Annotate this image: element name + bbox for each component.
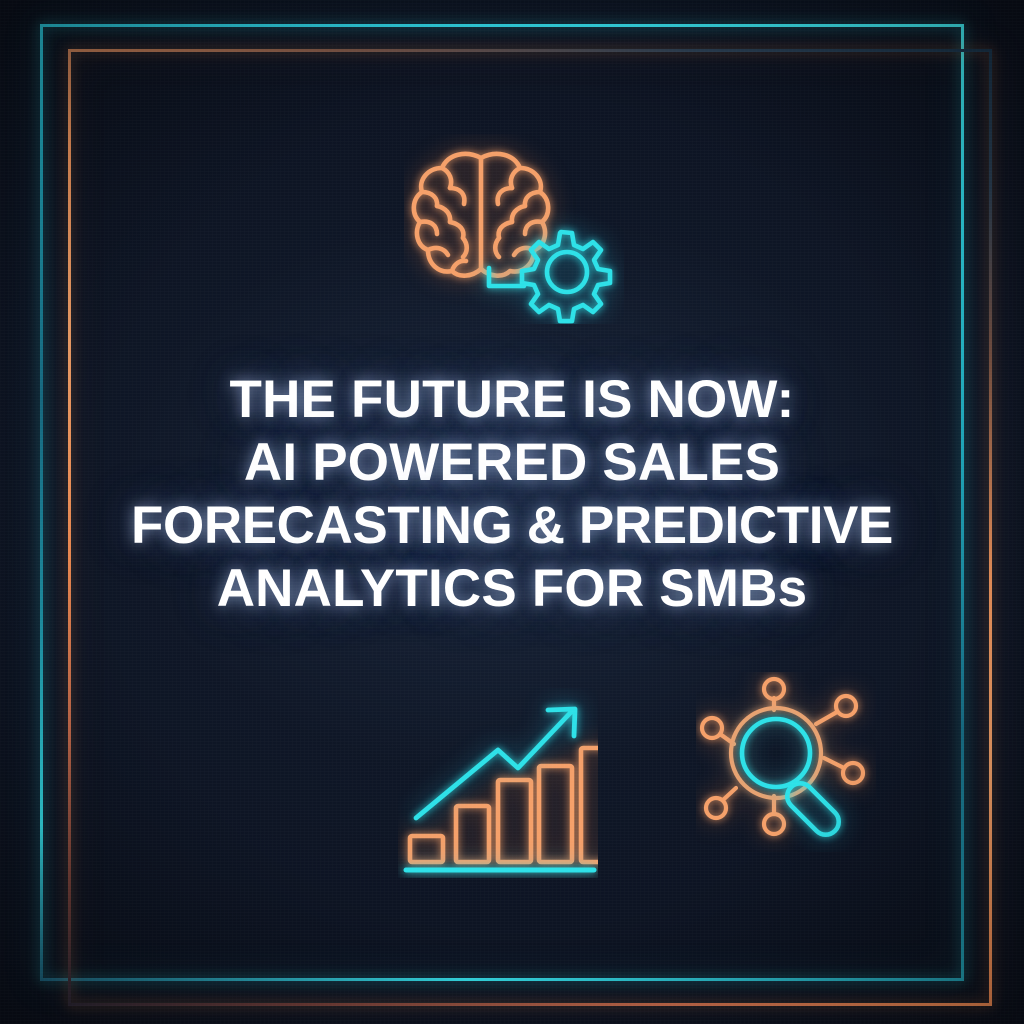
headline-line-3: FORECASTING & PREDICTIVE <box>0 494 1024 557</box>
brain-icon <box>414 154 548 276</box>
headline-line-1: THE FUTURE IS NOW: <box>0 368 1024 431</box>
magnifier-icon <box>742 719 844 840</box>
headline-line-4: ANALYTICS FOR SMBs <box>0 557 1024 620</box>
node-network-icon <box>702 679 863 834</box>
analytics-network-icon <box>696 672 876 852</box>
chart-bars <box>410 748 598 862</box>
trend-arrow-icon <box>416 709 575 818</box>
poster-canvas: THE FUTURE IS NOW: AI POWERED SALES FORE… <box>0 0 1024 1024</box>
headline-line-2: AI POWERED SALES <box>0 431 1024 494</box>
brain-gear-icon <box>404 134 624 324</box>
page-title: THE FUTURE IS NOW: AI POWERED SALES FORE… <box>0 368 1024 620</box>
growth-chart-icon <box>398 688 598 878</box>
gear-icon <box>489 232 610 321</box>
